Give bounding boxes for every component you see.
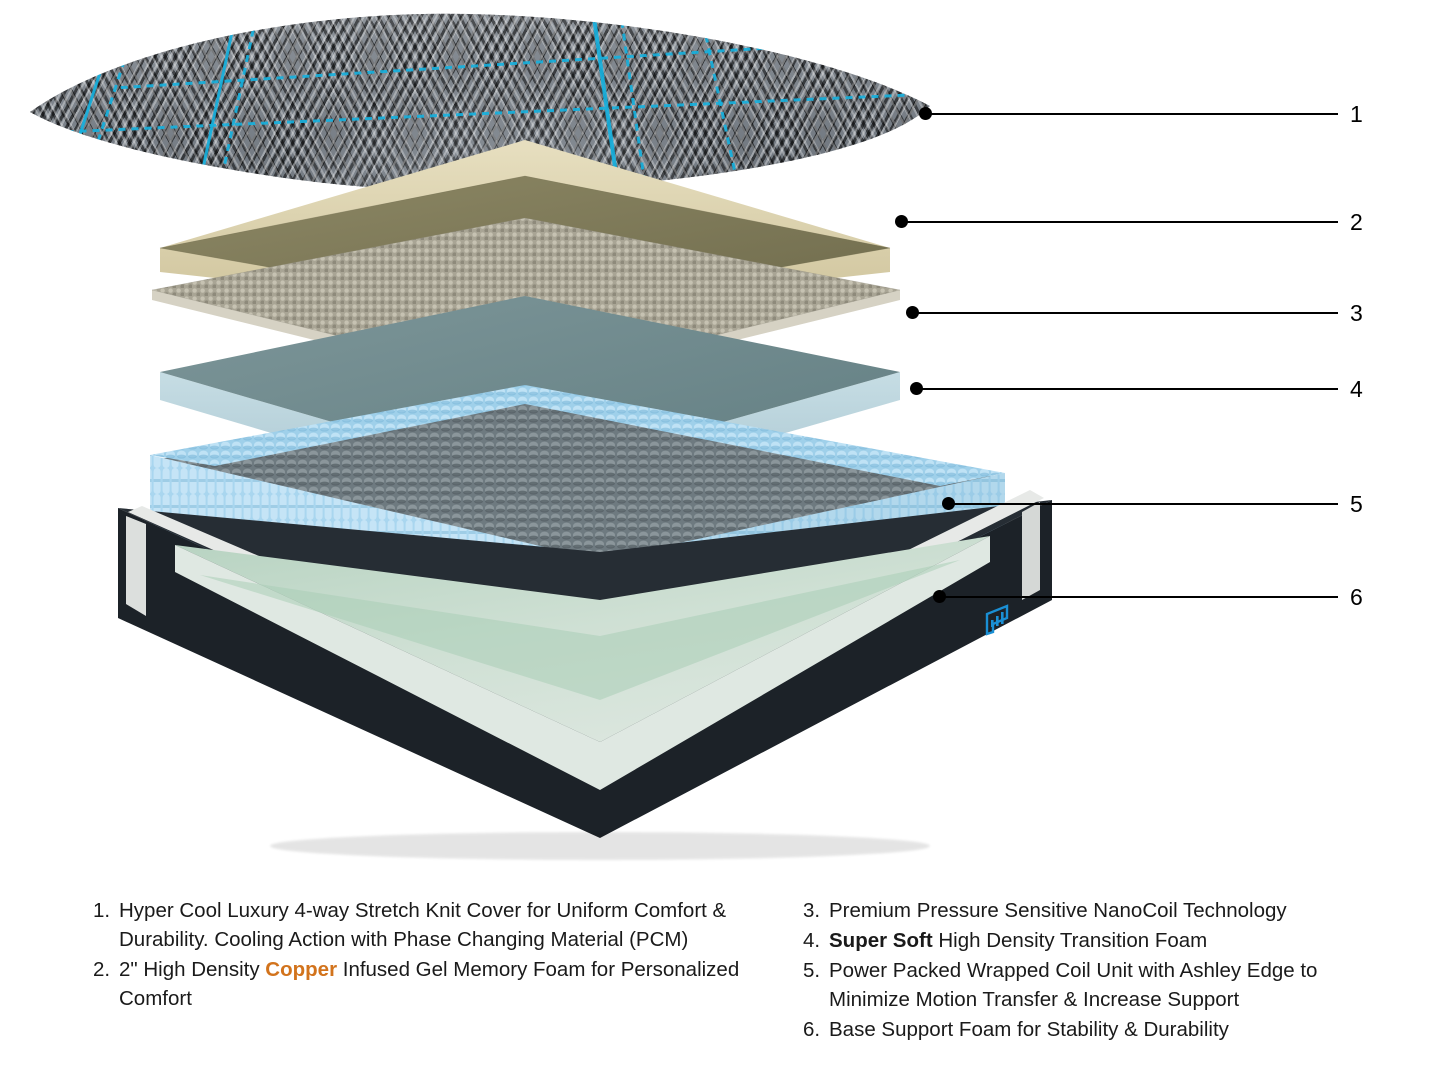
coil-unit-center-top — [155, 390, 1000, 560]
base-foam-side — [175, 536, 990, 790]
mattress-construction-diagram-page: 1 2 3 4 5 6 1.Hyper Cool Luxury — [0, 0, 1445, 1084]
legend-item-number: 2. — [93, 955, 119, 984]
legend-item: 3.Premium Pressure Sensitive NanoCoil Te… — [803, 896, 1403, 925]
nanocoil-top — [152, 218, 900, 382]
legend-item-number: 3. — [803, 896, 829, 925]
base-foam-inner-shade — [200, 560, 960, 700]
callout-number-1: 1 — [1350, 103, 1363, 126]
legend-item-number: 5. — [803, 956, 829, 985]
legend-text-part: Power Packed Wrapped Coil Unit with Ashl… — [829, 959, 1317, 1011]
base-support-foam-layer — [118, 490, 1052, 860]
legend-item-number: 4. — [803, 926, 829, 955]
legend-item: 1.Hyper Cool Luxury 4-way Stretch Knit C… — [93, 896, 793, 954]
legend-text-part: Super Soft — [829, 929, 933, 952]
nanocoil-layer — [152, 218, 900, 392]
legend-item-text: Base Support Foam for Stability & Durabi… — [829, 1015, 1403, 1044]
transition-foam-side — [160, 372, 900, 508]
legend-item-text: 2" High Density Copper Infused Gel Memor… — [119, 955, 793, 1013]
callout-line-2 — [902, 221, 1338, 223]
legend-item: 4.Super Soft High Density Transition Foa… — [803, 926, 1403, 955]
coil-unit-edge-top — [150, 385, 1005, 486]
callout-line-3 — [913, 312, 1338, 314]
legend-column-left: 1.Hyper Cool Luxury 4-way Stretch Knit C… — [93, 896, 793, 1014]
base-border-top — [118, 500, 1052, 730]
callout-number-6: 6 — [1350, 586, 1363, 609]
base-trim-left — [126, 516, 146, 616]
transition-foam-top — [160, 296, 900, 478]
legend-column-right: 3.Premium Pressure Sensitive NanoCoil Te… — [803, 896, 1403, 1046]
legend-item-text: Super Soft High Density Transition Foam — [829, 926, 1403, 955]
legend-text-part: High Density Transition Foam — [933, 929, 1208, 952]
coil-unit-front-left-side — [150, 455, 600, 672]
nanocoil-side — [152, 290, 900, 392]
callout-number-4: 4 — [1350, 378, 1363, 401]
legend-item-number: 1. — [93, 896, 119, 925]
legend-item-text: Power Packed Wrapped Coil Unit with Ashl… — [829, 956, 1403, 1014]
callout-number-5: 5 — [1350, 493, 1363, 516]
legend-item: 6.Base Support Foam for Stability & Dura… — [803, 1015, 1403, 1044]
legend: 1.Hyper Cool Luxury 4-way Stretch Knit C… — [0, 896, 1445, 1076]
callout-line-4 — [917, 388, 1338, 390]
knit-cover-layer — [0, 0, 960, 195]
callout-line-6 — [940, 596, 1338, 598]
knit-cover-highlight — [0, 0, 1100, 880]
exploded-mattress-diagram: 1 2 3 4 5 6 — [0, 0, 1100, 880]
base-trim-right — [1022, 502, 1040, 600]
copper-gel-foam-top — [160, 176, 890, 312]
transition-foam-layer — [160, 296, 900, 508]
legend-item-text: Premium Pressure Sensitive NanoCoil Tech… — [829, 896, 1403, 925]
legend-item-text: Hyper Cool Luxury 4-way Stretch Knit Cov… — [119, 896, 793, 954]
base-trim — [128, 490, 1044, 722]
base-border-dark — [118, 500, 1052, 838]
legend-text-part: Hyper Cool Luxury 4-way Stretch Knit Cov… — [119, 899, 726, 951]
wrapped-coil-unit-layer — [150, 385, 1005, 672]
legend-item: 5.Power Packed Wrapped Coil Unit with As… — [803, 956, 1403, 1014]
callout-number-3: 3 — [1350, 302, 1363, 325]
knit-cover-surface — [0, 0, 1100, 880]
base-foam-top — [175, 536, 990, 742]
callout-number-2: 2 — [1350, 211, 1363, 234]
brand-logo-icon — [987, 606, 1007, 634]
legend-text-part: Premium Pressure Sensitive NanoCoil Tech… — [829, 899, 1287, 922]
base-shadow — [270, 832, 930, 860]
legend-text-part: Base Support Foam for Stability & Durabi… — [829, 1018, 1229, 1041]
callout-line-5 — [949, 503, 1338, 505]
legend-item-number: 6. — [803, 1015, 829, 1044]
legend-item: 2.2" High Density Copper Infused Gel Mem… — [93, 955, 793, 1013]
copper-highlight: Copper — [265, 958, 337, 981]
callout-line-1 — [926, 113, 1338, 115]
legend-text-part: 2" High Density — [119, 958, 265, 981]
